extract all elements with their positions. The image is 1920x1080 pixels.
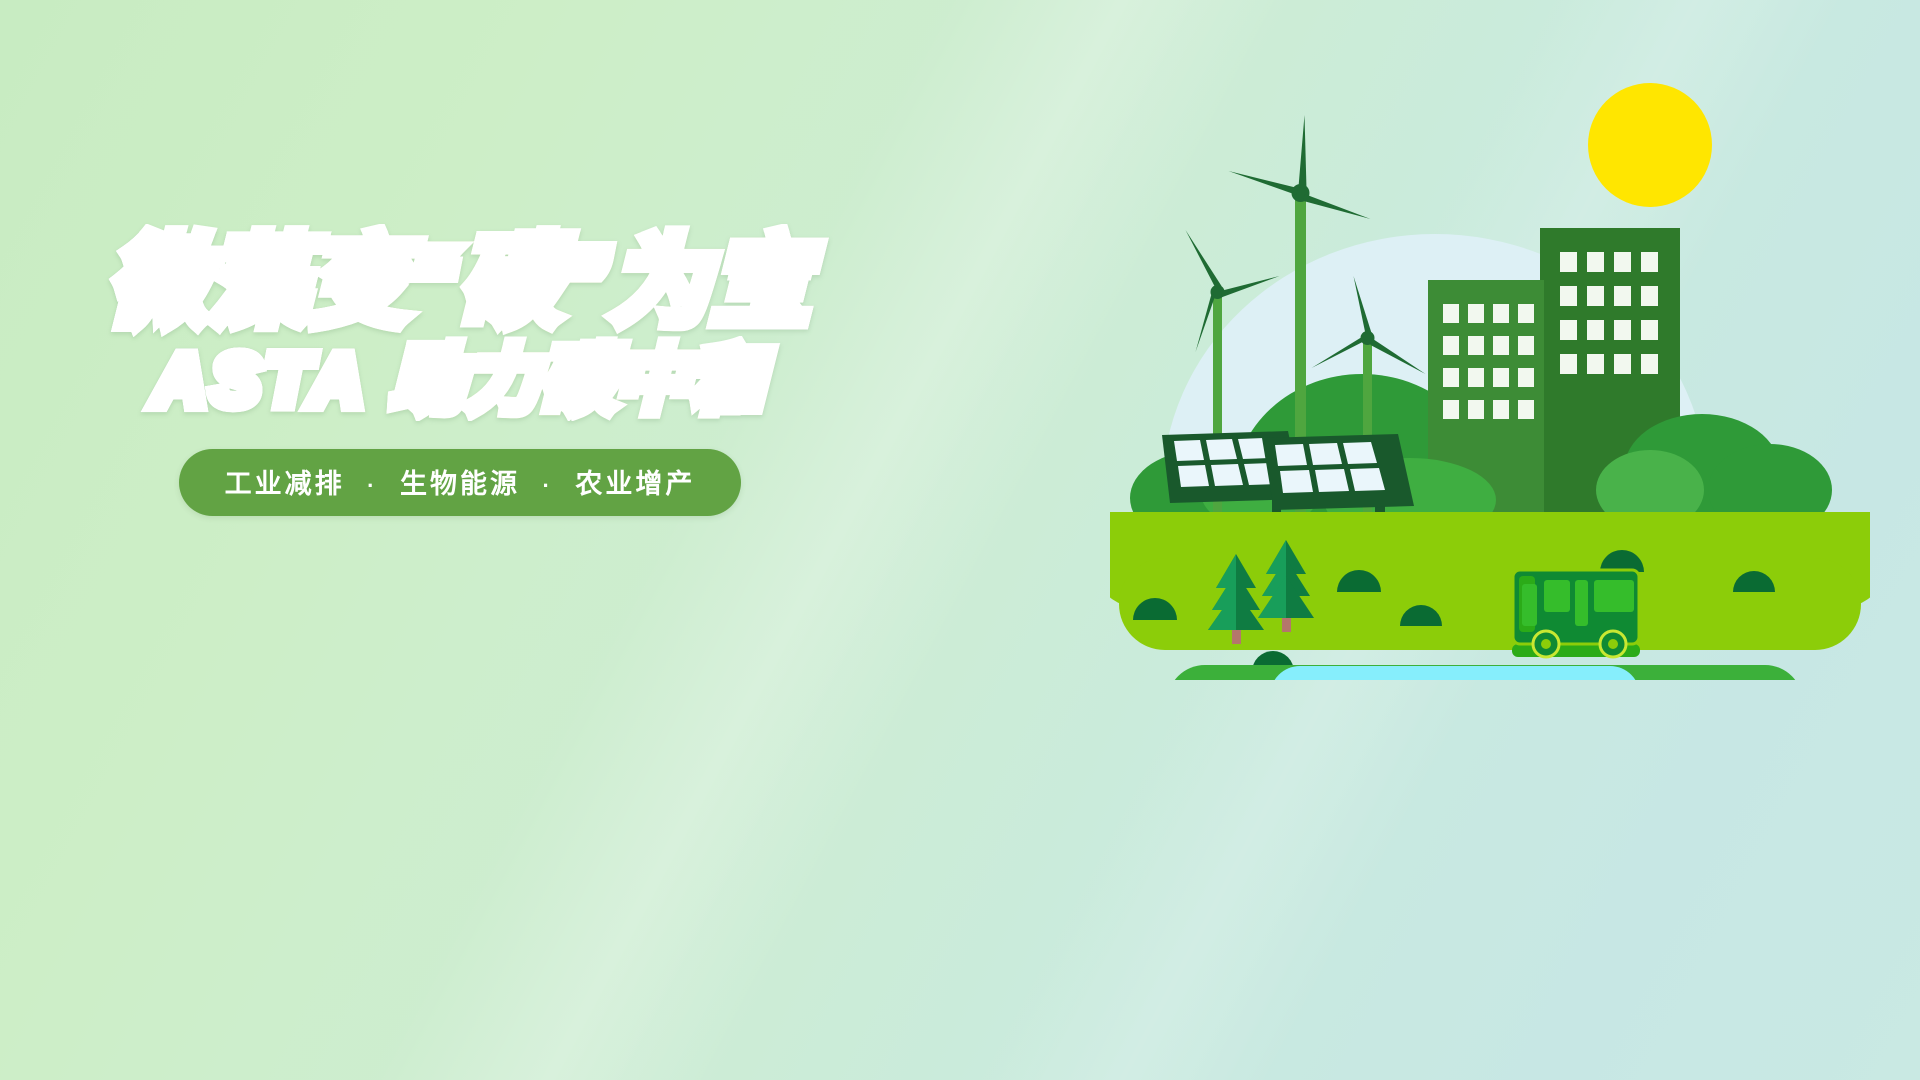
eco-banner: 微藻变“碳”为宝 ASTA 助力碳中和 工业减排 · 生物能源 · 农业增产: [0, 0, 1920, 1080]
page-subtitle-latin: ASTA: [154, 341, 369, 421]
page-subtitle: ASTA 助力碳中和: [0, 344, 920, 419]
bus-icon: [1512, 570, 1640, 657]
page-title: 微藻变“碳”为宝: [0, 232, 920, 334]
tagline-separator-2: ·: [531, 473, 565, 498]
tagline-item-1: 工业减排: [225, 469, 345, 499]
tagline-pill: 工业减排 · 生物能源 · 农业增产: [179, 449, 742, 516]
lake-icon: [1167, 665, 1803, 680]
sun-icon: [1588, 83, 1712, 207]
page-subtitle-cn: 助力碳中和: [391, 341, 766, 421]
eco-city-illustration: [1110, 60, 1870, 680]
tagline-item-2: 生物能源: [400, 469, 520, 499]
tagline-item-3: 农业增产: [575, 469, 695, 499]
headline-block: 微藻变“碳”为宝 ASTA 助力碳中和 工业减排 · 生物能源 · 农业增产: [0, 232, 920, 516]
tagline-separator-1: ·: [355, 473, 389, 498]
